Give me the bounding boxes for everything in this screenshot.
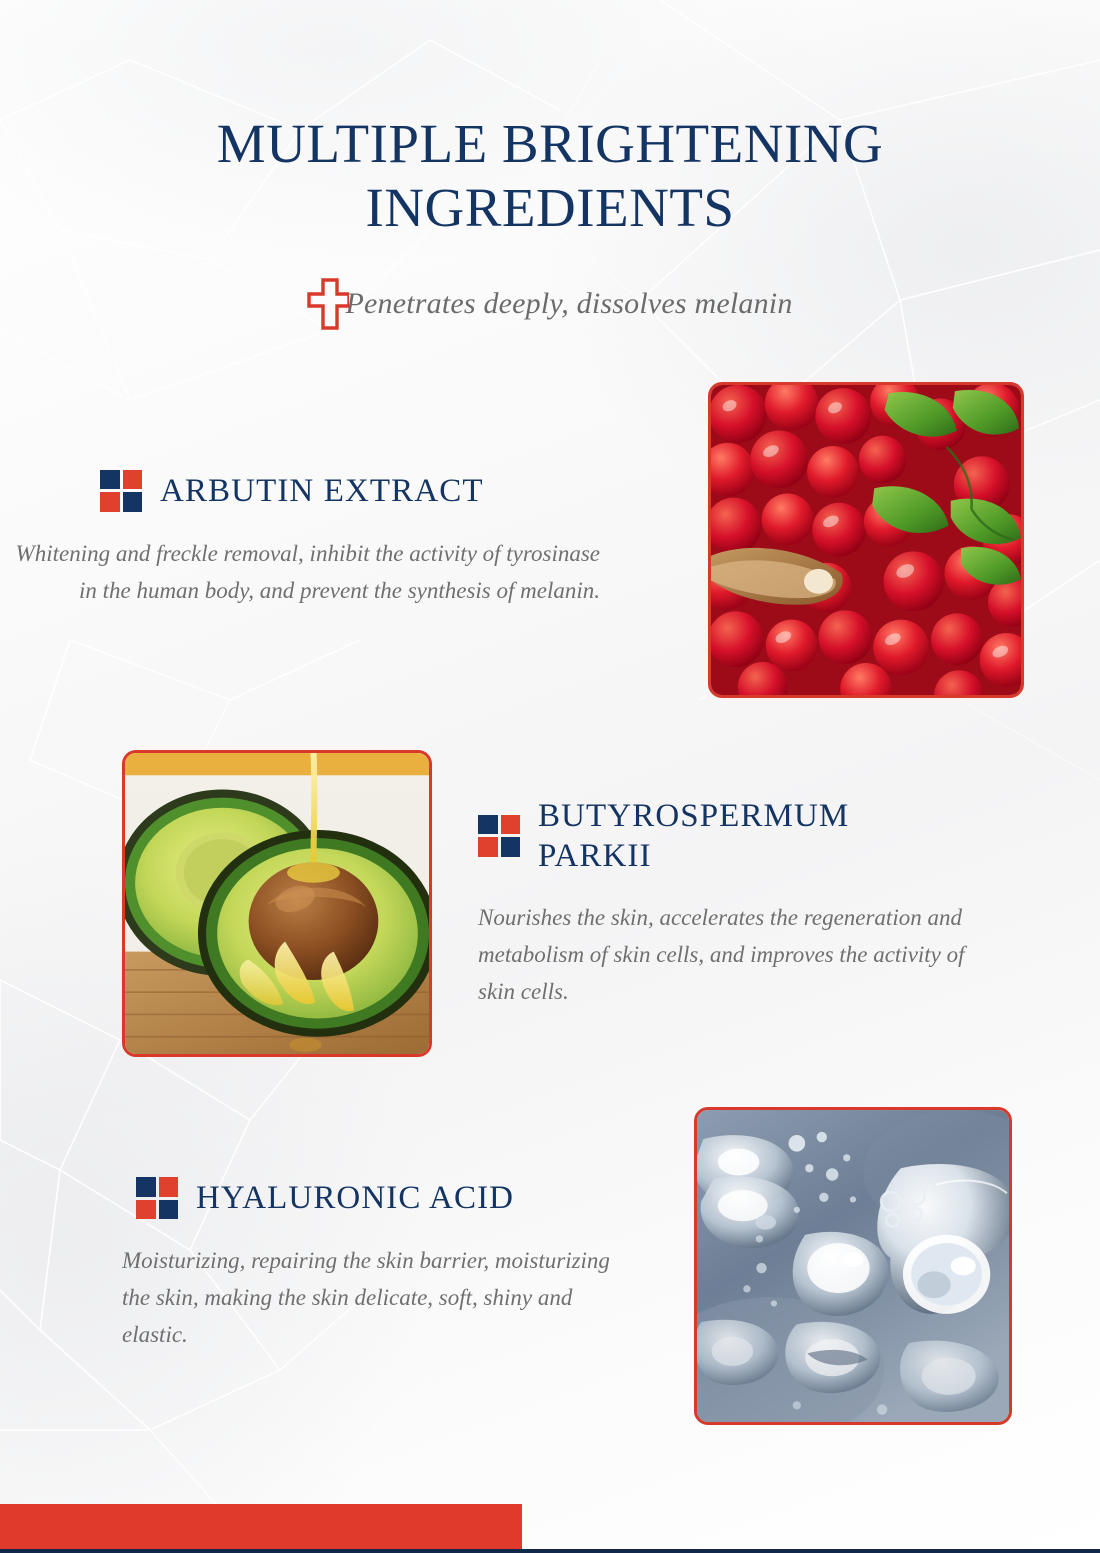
- four-square-checker-icon: [136, 1177, 178, 1219]
- subtitle-row: Penetrates deeply, dissolves melanin: [0, 276, 1100, 332]
- ingredient-section-arbutin-extract: ARBUTIN EXTRACT Whitening and freckle re…: [0, 332, 1100, 698]
- ingredient-title: BUTYROSPERMUM PARKII: [538, 796, 958, 877]
- footer-accent-bar: [0, 1504, 522, 1549]
- ingredient-title-row: HYALURONIC ACID: [122, 1177, 632, 1219]
- ingredient-title: HYALURONIC ACID: [196, 1178, 514, 1218]
- infographic-page: MULTIPLE BRIGHTENING INGREDIENTS Penetra…: [0, 0, 1100, 1553]
- ingredient-description: Whitening and freckle removal, inhibit t…: [0, 536, 600, 610]
- water-droplets-illustration: [697, 1110, 1009, 1422]
- ingredient-photo-water-droplets: [694, 1107, 1012, 1425]
- ingredient-description: Moisturizing, repairing the skin barrier…: [122, 1243, 632, 1353]
- ingredient-photo-berries: [708, 382, 1024, 698]
- ingredient-title-row: ARBUTIN EXTRACT: [0, 470, 600, 512]
- page-header: MULTIPLE BRIGHTENING INGREDIENTS Penetra…: [0, 0, 1100, 332]
- four-square-checker-icon: [478, 815, 520, 857]
- page-subtitle: Penetrates deeply, dissolves melanin: [345, 287, 792, 321]
- ingredient-text-block: HYALURONIC ACID Moisturizing, repairing …: [122, 1177, 632, 1353]
- red-cross-icon: [307, 276, 349, 332]
- berries-illustration: [711, 385, 1021, 695]
- ingredient-photo-avocado: [122, 750, 432, 1057]
- footer-rule: [0, 1549, 1100, 1553]
- four-square-checker-icon: [100, 470, 142, 512]
- page-title: MULTIPLE BRIGHTENING INGREDIENTS: [120, 112, 980, 240]
- ingredient-section-hyaluronic-acid: HYALURONIC ACID Moisturizing, repairing …: [0, 1057, 1100, 1425]
- ingredient-description: Nourishes the skin, accelerates the rege…: [478, 900, 998, 1010]
- ingredient-section-butyrospermum-parkii: BUTYROSPERMUM PARKII Nourishes the skin,…: [0, 698, 1100, 1057]
- ingredient-text-block: ARBUTIN EXTRACT Whitening and freckle re…: [0, 470, 636, 610]
- ingredient-title: ARBUTIN EXTRACT: [160, 471, 484, 511]
- ingredient-title-row: BUTYROSPERMUM PARKII: [478, 796, 998, 877]
- ingredient-text-block: BUTYROSPERMUM PARKII Nourishes the skin,…: [478, 796, 998, 1011]
- avocado-illustration: [125, 753, 429, 1057]
